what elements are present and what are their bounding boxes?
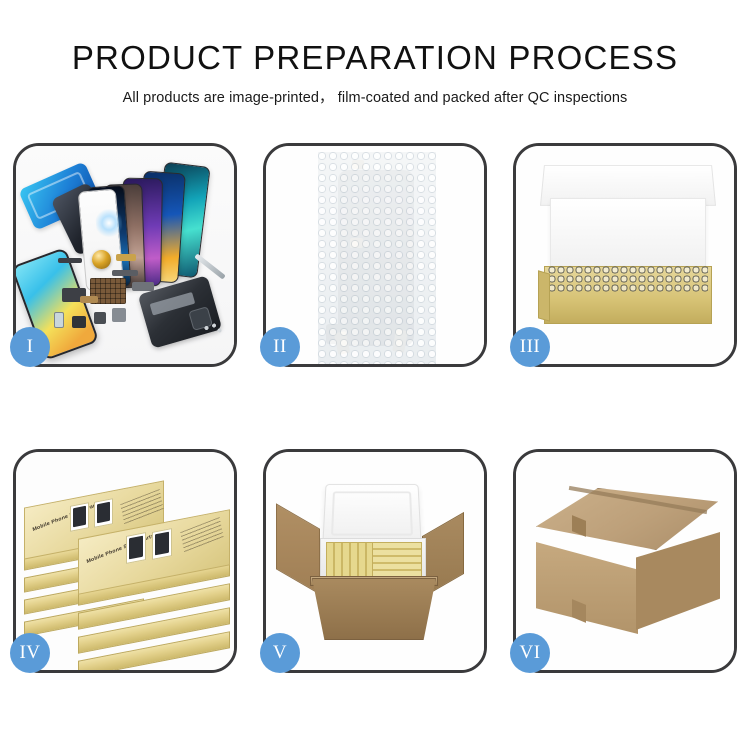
carton-body <box>312 578 436 640</box>
step-badge-6: VI <box>510 633 550 673</box>
step-badge-5: V <box>260 633 300 673</box>
flex-cable-part-2 <box>116 254 136 261</box>
step-panel-5[interactable]: V <box>263 449 487 673</box>
foam-lid <box>322 484 421 544</box>
flex-cable-part-5 <box>132 282 154 291</box>
step-panel-2[interactable]: II <box>263 143 487 367</box>
antenna-part <box>80 296 98 303</box>
sealed-carton-front <box>536 542 638 634</box>
flex-cable-part-3 <box>112 270 138 276</box>
flex-cable-part-1 <box>58 258 82 263</box>
step-image-4: Mobile Phone Spare Parts Mobile Phone Sp… <box>16 452 234 670</box>
battery-connector-part <box>54 312 64 328</box>
sensor-part <box>112 308 126 322</box>
vibrator-part <box>94 312 106 324</box>
product-preparation-page: PRODUCT PREPARATION PROCESS All products… <box>0 0 750 750</box>
step-panel-3[interactable]: III <box>513 143 737 367</box>
camera-lens-part <box>92 250 111 269</box>
step-panel-6[interactable]: VI <box>513 449 737 673</box>
step-badge-3: III <box>510 327 550 367</box>
kraft-box-left-flap <box>538 270 550 321</box>
speaker-part <box>72 316 86 328</box>
step-panel-4[interactable]: Mobile Phone Spare Parts Mobile Phone Sp… <box>13 449 237 673</box>
step-badge-4: IV <box>10 633 50 673</box>
cracked-screen-graphic <box>95 207 124 239</box>
step-image-5 <box>266 452 484 670</box>
step-image-3 <box>516 146 734 364</box>
retail-box-screen-img-b1 <box>70 502 89 532</box>
page-header: PRODUCT PREPARATION PROCESS All products… <box>0 38 750 107</box>
packed-boxes-row-2 <box>372 542 422 580</box>
foam-sheet <box>550 198 706 272</box>
step-image-6 <box>516 452 734 670</box>
retail-box-screen-img-f2 <box>152 528 172 560</box>
step-panel-1[interactable]: I <box>13 143 237 367</box>
retail-box-stack: Mobile Phone Spare Parts Mobile Phone Sp… <box>22 466 234 660</box>
screws-part <box>202 322 224 334</box>
step-badge-1: I <box>10 327 50 367</box>
retail-box-screen-img-f1 <box>126 532 146 564</box>
bubble-wrap-bag <box>318 152 436 364</box>
step-image-1 <box>16 146 234 364</box>
process-steps-grid: I II III <box>13 143 737 673</box>
phone-display-fan <box>88 164 234 292</box>
step-badge-2: II <box>260 327 300 367</box>
page-title: PRODUCT PREPARATION PROCESS <box>0 38 750 78</box>
bubble-padding-inside-box <box>548 266 708 292</box>
page-subtitle: All products are image-printed， film-coa… <box>0 86 750 107</box>
step-image-2 <box>266 146 484 364</box>
retail-box-screen-img-b2 <box>94 498 113 528</box>
